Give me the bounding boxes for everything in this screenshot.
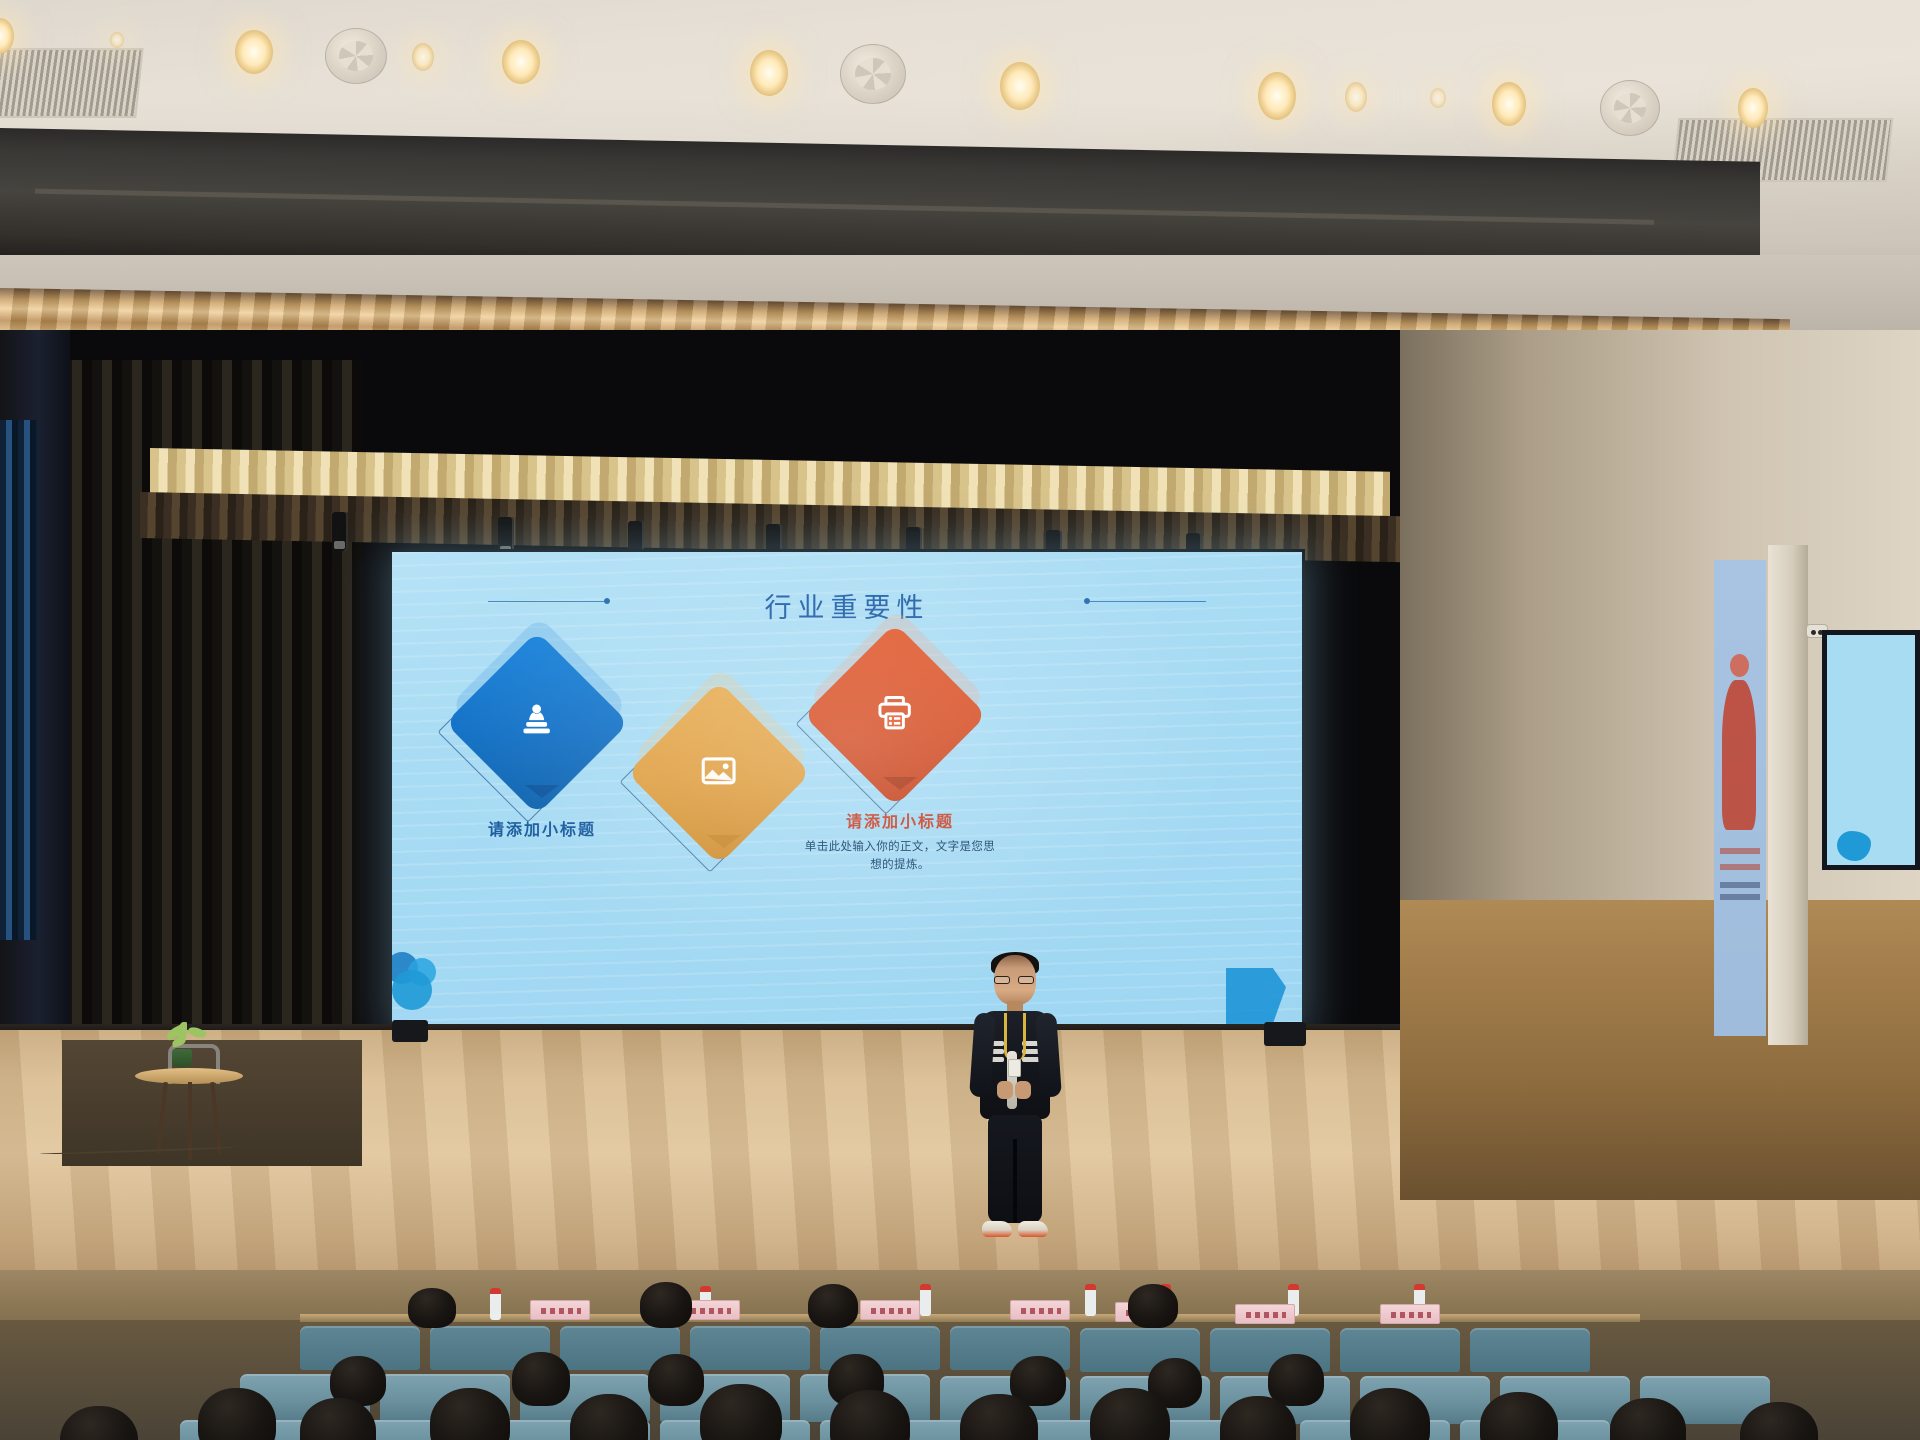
slide-title: 行业重要性 [392,586,1302,625]
display-blob-decoration [1837,831,1871,861]
audience-head [60,1406,138,1440]
diamond-tip [707,835,741,848]
stage-light-fixture [332,512,348,552]
tile-body: 单击此处输入你的正文，文字是您思想的提炼。 [800,839,1000,875]
banner-figure [1722,680,1756,830]
water-bottle [920,1284,931,1316]
ceiling-downlight [1430,88,1446,108]
glasses-icon [994,976,1036,984]
ceiling-downlight [502,40,540,84]
secondary-display [1822,630,1920,870]
name-card [1380,1304,1440,1324]
ceiling-downlight [1738,88,1768,128]
audience-head [1128,1284,1178,1328]
audience-back-wall [0,1270,1920,1320]
audience-seat [690,1326,810,1370]
slide-tile-image [624,702,824,866]
slide-square-decoration [1226,968,1286,1024]
diamond-image [648,702,800,854]
plant-pot [172,1049,192,1067]
ceiling-downlight [1492,82,1526,126]
stage-equipment-left [392,1020,428,1042]
presenter-legs [988,1115,1042,1223]
title-dot-right [1084,598,1090,604]
projection-screen: 行业重要性 [392,552,1302,1030]
water-bottle [1085,1284,1096,1316]
presenter-hand-left [997,1081,1013,1099]
ceiling-downlight [1000,62,1040,110]
wall-pillar [1768,545,1808,1045]
stamp-icon [515,699,559,748]
presenter-sleeve-right [1035,1012,1062,1097]
auditorium-scene: 行业重要性 [0,0,1920,1440]
ceiling-downlight [235,30,273,74]
ceiling-downlight [1258,72,1296,120]
audience-head [808,1284,858,1328]
audience-seat [1470,1328,1590,1372]
presenter-hand-right [1015,1081,1031,1099]
badge [1008,1059,1021,1077]
decorative-banner [1714,560,1766,1036]
ceiling-air-diffuser [840,44,906,104]
banner-text-lines [1720,848,1760,854]
audience-head [1268,1354,1324,1406]
presenter-shoe-right [1018,1221,1048,1237]
audience-head [408,1288,456,1328]
slide-blob-decoration [392,950,448,1012]
diamond-tip [883,777,917,790]
name-card [530,1300,590,1320]
tile-heading: 请添加小标题 [442,816,642,840]
ceiling-downlight [412,43,434,71]
slide-tile-printer: 请添加小标题 单击此处输入你的正文，文字是您思想的提炼。 [800,644,1000,875]
audience-head [648,1354,704,1406]
left-blue-curtain [0,420,38,940]
ceiling-air-diffuser [1600,80,1660,136]
ceiling-air-diffuser [325,28,387,84]
name-card [1010,1300,1070,1320]
ceiling-downlight [110,32,124,48]
ceiling-vent [0,48,144,118]
stage-equipment-right [1264,1022,1306,1046]
name-card [860,1300,920,1320]
audience-seat [1340,1328,1460,1372]
presenter-shoe-left [982,1221,1012,1237]
diamond-tip [525,785,559,798]
name-card [1235,1304,1295,1324]
stage-light-fixture [498,517,514,557]
audience-head [640,1282,692,1328]
diamond-stamp [466,652,618,804]
audience-area [0,1270,1920,1440]
right-wall-wood-panel [1400,900,1920,1200]
presenter [960,955,1070,1255]
tile-heading: 请添加小标题 [800,808,1000,832]
slide-tile-stamp: 请添加小标题 [442,652,642,847]
slide-tiles: 请添加小标题 [392,644,1302,964]
ceiling-downlight [750,50,788,96]
printer-icon [874,692,916,739]
title-rule-right [1088,601,1206,602]
ceiling-downlight [1345,82,1367,112]
water-bottle [490,1288,501,1320]
audience-head [512,1352,570,1406]
picture-icon [698,750,740,797]
diamond-printer [824,644,976,796]
